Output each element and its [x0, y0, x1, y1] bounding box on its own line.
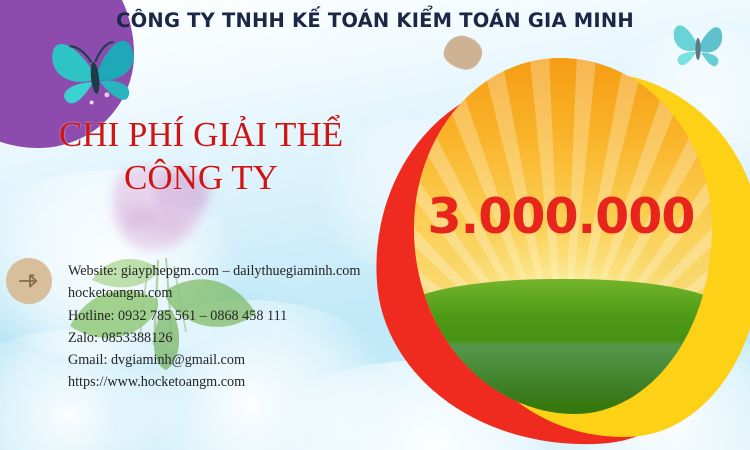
page-title: CÔNG TY TNHH KẾ TOÁN KIỂM TOÁN GIA MINH: [0, 9, 750, 32]
headline-line-2: CÔNG TY: [26, 157, 376, 200]
contact-gmail: Gmail: dvgiaminh@gmail.com: [68, 349, 398, 371]
headline-line-1: CHI PHÍ GIẢI THỂ: [59, 115, 343, 154]
arrow-right-icon: [16, 268, 42, 294]
contact-info: Website: giayphepgm.com – dailythuegiami…: [68, 260, 398, 394]
headline: CHI PHÍ GIẢI THỂ CÔNG TY: [26, 114, 376, 199]
price-graphic: 3.000.000: [372, 50, 750, 450]
contact-hotline: Hotline: 0932 785 561 – 0868 458 111: [68, 305, 398, 327]
contact-website-2: hocketoangm.com: [68, 282, 398, 304]
contact-url: https://www.hocketoangm.com: [68, 371, 398, 393]
arrow-right-button[interactable]: [6, 258, 52, 304]
field-haze: [438, 343, 688, 400]
contact-zalo: Zalo: 0853388126: [68, 327, 398, 349]
price-value: 3.000.000: [372, 188, 750, 245]
contact-website-1: Website: giayphepgm.com – dailythuegiami…: [68, 260, 398, 282]
promotional-banner: 3.000.000 CÔNG TY TNHH KẾ TOÁN KIỂM TOÁN…: [0, 0, 750, 450]
